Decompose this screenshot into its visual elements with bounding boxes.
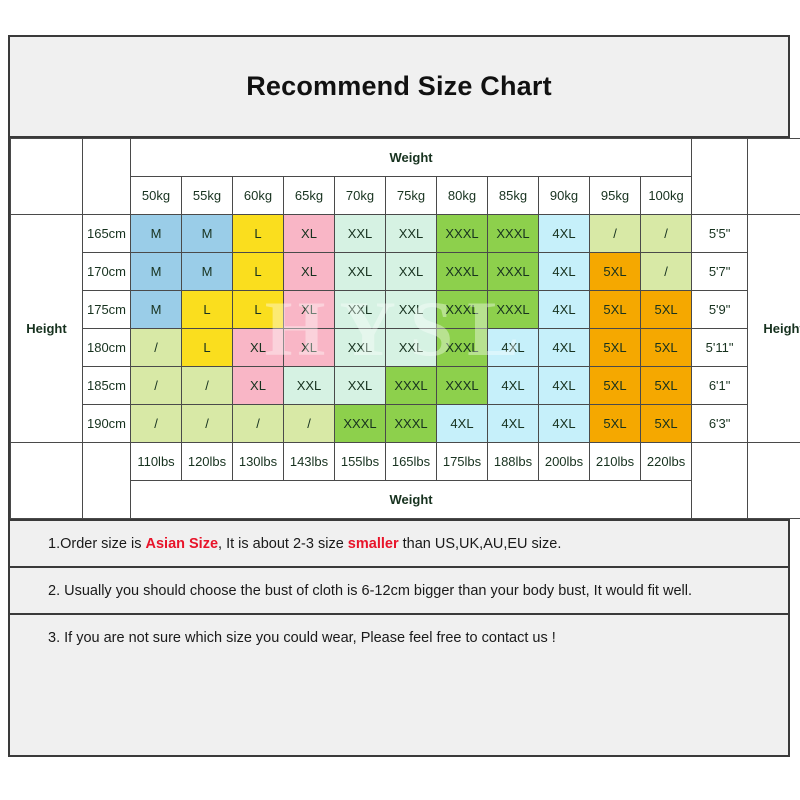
table-row: 190cm////XXXLXXXL4XL4XL4XL5XL5XL6'3" bbox=[11, 405, 800, 443]
lbs-header-row: 110lbs120lbs130lbs143lbs155lbs165lbs175l… bbox=[11, 443, 800, 481]
height-cm-1: 170cm bbox=[83, 253, 131, 291]
size-cell-0-4: XXL bbox=[335, 215, 386, 253]
size-cell-5-4: XXXL bbox=[335, 405, 386, 443]
size-chart-panel: Recommend Size Chart HYSL Weight50kg55kg… bbox=[8, 35, 790, 757]
size-cell-3-3: XL bbox=[284, 329, 335, 367]
note-1: 1.Order size is Asian Size, It is about … bbox=[10, 519, 788, 566]
size-cell-3-6: XXXL bbox=[437, 329, 488, 367]
size-cell-0-6: XXXL bbox=[437, 215, 488, 253]
weight-label-top: Weight bbox=[131, 139, 692, 177]
size-cell-1-6: XXXL bbox=[437, 253, 488, 291]
table-row: 180cm/LXLXLXXLXXLXXXL4XL4XL5XL5XL5'11" bbox=[11, 329, 800, 367]
lbs-header-1: 120lbs bbox=[182, 443, 233, 481]
size-cell-5-2: / bbox=[233, 405, 284, 443]
size-cell-2-0: M bbox=[131, 291, 182, 329]
lbs-header-3: 143lbs bbox=[284, 443, 335, 481]
note-3: 3. If you are not sure which size you co… bbox=[10, 613, 788, 660]
height-ft-4: 6'1" bbox=[692, 367, 748, 405]
size-cell-4-1: / bbox=[182, 367, 233, 405]
lbs-header-5: 165lbs bbox=[386, 443, 437, 481]
size-cell-4-9: 5XL bbox=[590, 367, 641, 405]
size-cell-4-7: 4XL bbox=[488, 367, 539, 405]
note-3-text: 3. If you are not sure which size you co… bbox=[48, 630, 556, 646]
kg-header-1: 55kg bbox=[182, 177, 233, 215]
size-cell-5-0: / bbox=[131, 405, 182, 443]
lbs-header-2: 130lbs bbox=[233, 443, 284, 481]
size-cell-3-9: 5XL bbox=[590, 329, 641, 367]
corner-blank-right2 bbox=[748, 139, 800, 215]
note-2: 2. Usually you should choose the bust of… bbox=[10, 566, 788, 613]
size-cell-3-0: / bbox=[131, 329, 182, 367]
size-cell-5-1: / bbox=[182, 405, 233, 443]
lbs-header-0: 110lbs bbox=[131, 443, 182, 481]
table-row: 170cmMMLXLXXLXXLXXXLXXXL4XL5XL/5'7" bbox=[11, 253, 800, 291]
height-cm-5: 190cm bbox=[83, 405, 131, 443]
note-1-highlight-asian: Asian Size bbox=[146, 536, 219, 552]
size-cell-4-6: XXXL bbox=[437, 367, 488, 405]
height-cm-4: 185cm bbox=[83, 367, 131, 405]
size-cell-0-10: / bbox=[641, 215, 692, 253]
size-cell-3-4: XXL bbox=[335, 329, 386, 367]
weight-label-bottom: Weight bbox=[131, 481, 692, 519]
size-cell-1-10: / bbox=[641, 253, 692, 291]
title-band: Recommend Size Chart bbox=[10, 37, 788, 138]
size-cell-4-0: / bbox=[131, 367, 182, 405]
size-cell-1-8: 4XL bbox=[539, 253, 590, 291]
height-ft-5: 6'3" bbox=[692, 405, 748, 443]
table-row: 175cmMLLXLXXLXXLXXXLXXXL4XL5XL5XL5'9" bbox=[11, 291, 800, 329]
kg-header-2: 60kg bbox=[233, 177, 284, 215]
corner-blank-left bbox=[11, 139, 83, 215]
size-cell-2-3: XL bbox=[284, 291, 335, 329]
height-cm-0: 165cm bbox=[83, 215, 131, 253]
kg-header-8: 90kg bbox=[539, 177, 590, 215]
size-cell-1-0: M bbox=[131, 253, 182, 291]
size-cell-1-7: XXXL bbox=[488, 253, 539, 291]
height-cm-2: 175cm bbox=[83, 291, 131, 329]
corner-blank-right bbox=[692, 139, 748, 215]
height-ft-3: 5'11" bbox=[692, 329, 748, 367]
kg-header-6: 80kg bbox=[437, 177, 488, 215]
corner-blank-br2 bbox=[748, 443, 800, 519]
size-cell-1-4: XXL bbox=[335, 253, 386, 291]
size-cell-1-9: 5XL bbox=[590, 253, 641, 291]
size-cell-0-1: M bbox=[182, 215, 233, 253]
size-cell-2-9: 5XL bbox=[590, 291, 641, 329]
size-cell-1-2: L bbox=[233, 253, 284, 291]
size-cell-0-0: M bbox=[131, 215, 182, 253]
size-cell-4-3: XXL bbox=[284, 367, 335, 405]
size-cell-5-8: 4XL bbox=[539, 405, 590, 443]
size-cell-2-5: XXL bbox=[386, 291, 437, 329]
height-label-right: Height bbox=[748, 215, 800, 443]
size-cell-5-9: 5XL bbox=[590, 405, 641, 443]
height-ft-1: 5'7" bbox=[692, 253, 748, 291]
height-label-left: Height bbox=[11, 215, 83, 443]
lbs-header-8: 200lbs bbox=[539, 443, 590, 481]
size-cell-3-7: 4XL bbox=[488, 329, 539, 367]
kg-header-10: 100kg bbox=[641, 177, 692, 215]
size-cell-0-3: XL bbox=[284, 215, 335, 253]
size-cell-2-8: 4XL bbox=[539, 291, 590, 329]
note-1-text: 1.Order size is Asian Size, It is about … bbox=[48, 536, 561, 552]
size-cell-2-2: L bbox=[233, 291, 284, 329]
size-chart-table: Weight50kg55kg60kg65kg70kg75kg80kg85kg90… bbox=[10, 138, 800, 519]
size-cell-5-6: 4XL bbox=[437, 405, 488, 443]
kg-header-0: 50kg bbox=[131, 177, 182, 215]
table-row: Height165cmMMLXLXXLXXLXXXLXXXL4XL//5'5"H… bbox=[11, 215, 800, 253]
lbs-header-7: 188lbs bbox=[488, 443, 539, 481]
note-1-highlight-smaller: smaller bbox=[348, 536, 399, 552]
lbs-header-9: 210lbs bbox=[590, 443, 641, 481]
lbs-header-4: 155lbs bbox=[335, 443, 386, 481]
size-cell-4-2: XL bbox=[233, 367, 284, 405]
kg-header-4: 70kg bbox=[335, 177, 386, 215]
size-cell-0-9: / bbox=[590, 215, 641, 253]
kg-header-7: 85kg bbox=[488, 177, 539, 215]
kg-header-3: 65kg bbox=[284, 177, 335, 215]
size-cell-4-10: 5XL bbox=[641, 367, 692, 405]
size-cell-2-6: XXXL bbox=[437, 291, 488, 329]
size-cell-5-10: 5XL bbox=[641, 405, 692, 443]
kg-header-5: 75kg bbox=[386, 177, 437, 215]
size-cell-1-5: XXL bbox=[386, 253, 437, 291]
lbs-header-10: 220lbs bbox=[641, 443, 692, 481]
size-cell-3-8: 4XL bbox=[539, 329, 590, 367]
size-cell-4-8: 4XL bbox=[539, 367, 590, 405]
size-cell-2-4: XXL bbox=[335, 291, 386, 329]
kg-header-9: 95kg bbox=[590, 177, 641, 215]
table-row: 185cm//XLXXLXXLXXXLXXXL4XL4XL5XL5XL6'1" bbox=[11, 367, 800, 405]
size-cell-2-1: L bbox=[182, 291, 233, 329]
size-cell-1-1: M bbox=[182, 253, 233, 291]
size-cell-1-3: XL bbox=[284, 253, 335, 291]
size-cell-4-5: XXXL bbox=[386, 367, 437, 405]
page-title: Recommend Size Chart bbox=[246, 71, 552, 102]
size-cell-2-7: XXXL bbox=[488, 291, 539, 329]
size-cell-3-2: XL bbox=[233, 329, 284, 367]
weight-header-row: Weight bbox=[11, 139, 800, 177]
size-cell-0-5: XXL bbox=[386, 215, 437, 253]
height-ft-2: 5'9" bbox=[692, 291, 748, 329]
note-2-text: 2. Usually you should choose the bust of… bbox=[48, 583, 692, 599]
table-body: Weight50kg55kg60kg65kg70kg75kg80kg85kg90… bbox=[11, 139, 800, 519]
size-cell-0-8: 4XL bbox=[539, 215, 590, 253]
size-cell-5-5: XXXL bbox=[386, 405, 437, 443]
size-cell-0-2: L bbox=[233, 215, 284, 253]
height-ft-0: 5'5" bbox=[692, 215, 748, 253]
size-cell-3-10: 5XL bbox=[641, 329, 692, 367]
height-cm-3: 180cm bbox=[83, 329, 131, 367]
corner-blank-bl2 bbox=[83, 443, 131, 519]
size-cell-5-3: / bbox=[284, 405, 335, 443]
size-cell-5-7: 4XL bbox=[488, 405, 539, 443]
corner-blank-br bbox=[692, 443, 748, 519]
corner-blank-bl bbox=[11, 443, 83, 519]
size-cell-2-10: 5XL bbox=[641, 291, 692, 329]
lbs-header-6: 175lbs bbox=[437, 443, 488, 481]
corner-blank-left2 bbox=[83, 139, 131, 215]
size-cell-3-5: XXL bbox=[386, 329, 437, 367]
table-wrapper: HYSL Weight50kg55kg60kg65kg70kg75kg80kg8… bbox=[10, 138, 788, 519]
size-cell-0-7: XXXL bbox=[488, 215, 539, 253]
size-cell-3-1: L bbox=[182, 329, 233, 367]
size-cell-4-4: XXL bbox=[335, 367, 386, 405]
